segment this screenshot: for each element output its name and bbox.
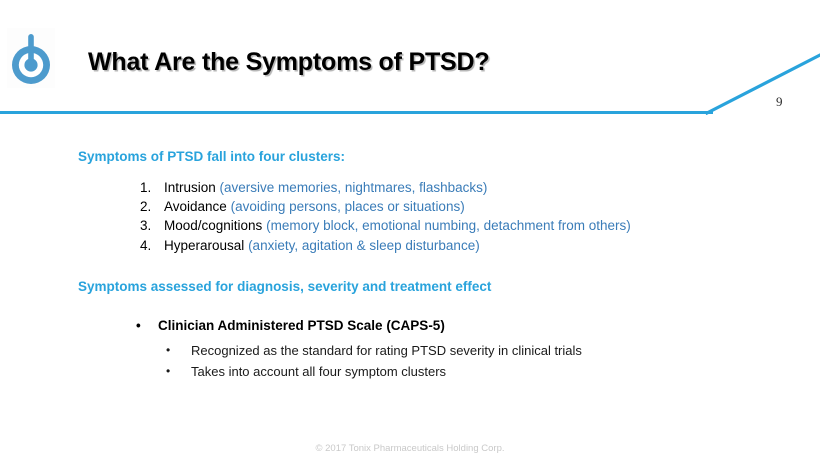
sub-bullet-label: Takes into account all four symptom clus… <box>191 364 446 379</box>
sub-bullet-label: Recognized as the standard for rating PT… <box>191 343 582 358</box>
list-item: •Recognized as the standard for rating P… <box>133 340 582 361</box>
list-item: •Takes into account all four symptom clu… <box>133 361 582 382</box>
cluster-detail: (memory block, emotional numbing, detach… <box>266 218 631 233</box>
list-marker: 1. <box>140 178 164 197</box>
cluster-detail: (avoiding persons, places or situations) <box>231 199 465 214</box>
header-rule-diagonal <box>705 45 820 115</box>
list-item: 3.Mood/cognitions (memory block, emotion… <box>140 216 631 235</box>
list-item: 2.Avoidance (avoiding persons, places or… <box>140 197 631 216</box>
cluster-detail: (aversive memories, nightmares, flashbac… <box>220 180 488 195</box>
symptom-clusters-list: 1.Intrusion (aversive memories, nightmar… <box>140 178 631 255</box>
section-heading-assessed: Symptoms assessed for diagnosis, severit… <box>78 279 491 294</box>
list-marker: 4. <box>140 236 164 255</box>
cluster-term: Mood/cognitions <box>164 218 262 233</box>
power-button-logo-glyph <box>7 28 55 88</box>
bullet-dot-icon: • <box>136 316 141 335</box>
caps5-sub-bullets: •Recognized as the standard for rating P… <box>133 340 582 382</box>
cluster-term: Avoidance <box>164 199 227 214</box>
bullet-dot-icon: • <box>166 361 170 382</box>
cluster-term: Intrusion <box>164 180 216 195</box>
page-title: What Are the Symptoms of PTSD? <box>88 48 489 77</box>
power-button-logo-icon <box>7 28 55 88</box>
caps5-bullet: •Clinician Administered PTSD Scale (CAPS… <box>133 316 582 335</box>
footer-copyright: © 2017 Tonix Pharmaceuticals Holding Cor… <box>0 443 820 454</box>
list-item: 4.Hyperarousal (anxiety, agitation & sle… <box>140 236 631 255</box>
page-number: 9 <box>776 94 783 110</box>
list-item: 1.Intrusion (aversive memories, nightmar… <box>140 178 631 197</box>
list-marker: 2. <box>140 197 164 216</box>
header-rule-diagonal-line <box>705 45 820 115</box>
cluster-detail: (anxiety, agitation & sleep disturbance) <box>248 238 480 253</box>
bullet-dot-icon: • <box>166 340 170 361</box>
caps5-bullet-block: •Clinician Administered PTSD Scale (CAPS… <box>133 316 582 382</box>
header-rule-horizontal <box>0 111 713 114</box>
section-heading-clusters: Symptoms of PTSD fall into four clusters… <box>78 149 345 164</box>
caps5-bullet-label: Clinician Administered PTSD Scale (CAPS-… <box>158 318 445 333</box>
list-marker: 3. <box>140 216 164 235</box>
cluster-term: Hyperarousal <box>164 238 244 253</box>
slide-canvas: What Are the Symptoms of PTSD? 9 Symptom… <box>0 0 820 461</box>
